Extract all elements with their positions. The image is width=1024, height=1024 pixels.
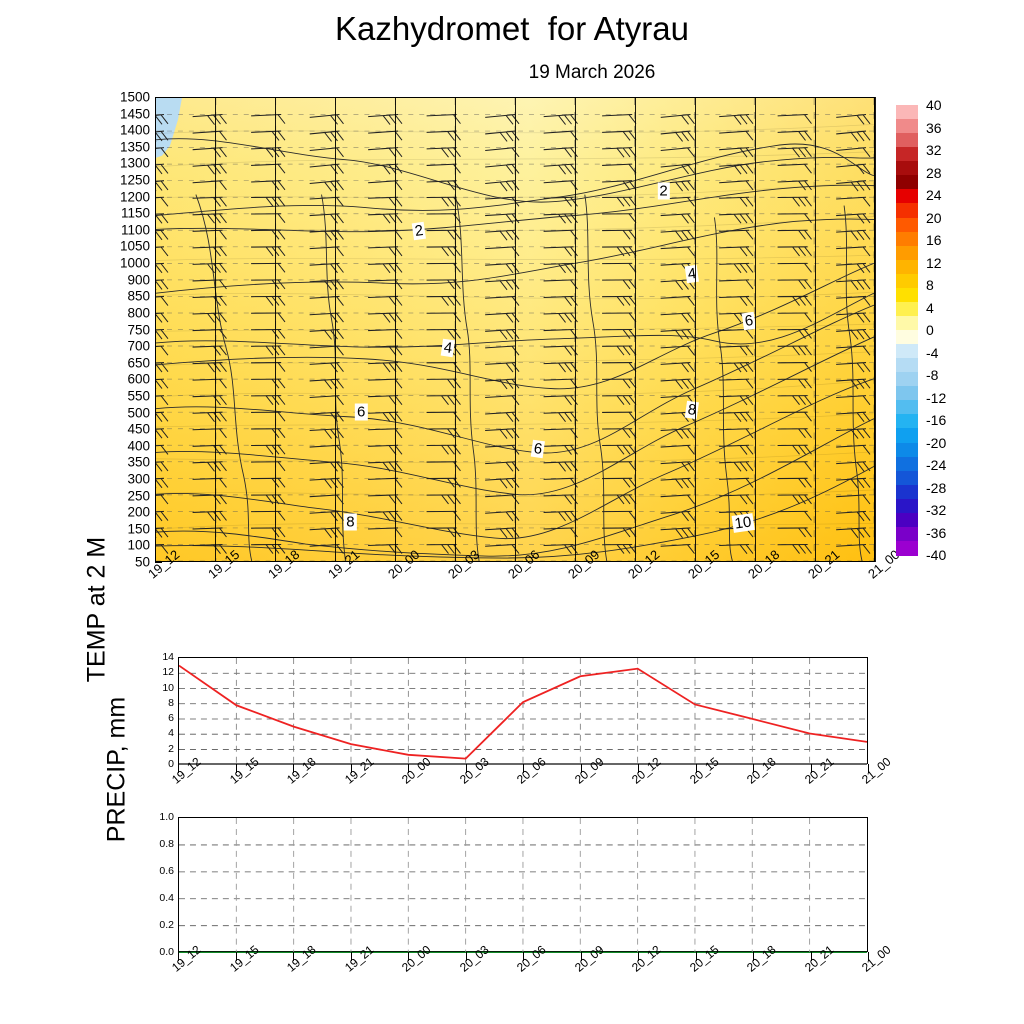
temperature-colorbar <box>896 105 918 555</box>
colorbar-segment <box>896 485 918 500</box>
colorbar-segment <box>896 330 918 345</box>
xsec-x-tick <box>275 97 276 562</box>
xsec-y-label: 1000 <box>90 256 150 270</box>
colorbar-segment <box>896 414 918 429</box>
colorbar-tick-label: 36 <box>926 121 942 135</box>
xsec-y-label: 750 <box>90 323 150 337</box>
xsec-y-label: 350 <box>90 456 150 470</box>
colorbar-tick-label: 24 <box>926 188 942 202</box>
xsec-y-label: 550 <box>90 389 150 403</box>
xsec-y-label: 600 <box>90 373 150 387</box>
xsec-x-tick <box>395 97 396 562</box>
xsec-y-label: 1200 <box>90 190 150 204</box>
colorbar-tick-label: -32 <box>926 503 946 517</box>
colorbar-tick-label: 0 <box>926 323 934 337</box>
colorbar-tick-label: 16 <box>926 233 942 247</box>
temp-series-line <box>179 658 867 765</box>
temp-panel-y-labels: 02468101214 <box>128 657 174 764</box>
xsec-x-tick <box>155 97 156 562</box>
colorbar-segment <box>896 428 918 443</box>
colorbar-segment <box>896 457 918 472</box>
colorbar-segment <box>896 541 918 556</box>
colorbar-tick-label: -36 <box>926 526 946 540</box>
colorbar-segment <box>896 161 918 176</box>
colorbar-segment <box>896 147 918 162</box>
precip-y-label: 1.0 <box>159 812 174 823</box>
colorbar-segment <box>896 246 918 261</box>
colorbar-tick-label: -24 <box>926 458 946 472</box>
xsec-y-label: 1500 <box>90 90 150 104</box>
precip-y-label: 0.8 <box>159 839 174 850</box>
colorbar-segment <box>896 302 918 317</box>
colorbar-segment <box>896 358 918 373</box>
xsec-y-label: 1350 <box>90 140 150 154</box>
colorbar-tick-label: -8 <box>926 368 938 382</box>
weather-forecast-page: Kazhydromet for Atyrau 19 March 2026 150… <box>0 0 1024 1024</box>
xsec-y-label: 800 <box>90 306 150 320</box>
colorbar-segment <box>896 260 918 275</box>
colorbar-segment <box>896 288 918 303</box>
xsec-x-tick <box>695 97 696 562</box>
colorbar-segment <box>896 316 918 331</box>
colorbar-tick-label: 8 <box>926 278 934 292</box>
temp-y-label: 6 <box>168 713 174 724</box>
page-title: Kazhydromet for Atyrau <box>0 10 1024 48</box>
precip-y-label: 0.2 <box>159 920 174 931</box>
xsec-y-label: 650 <box>90 356 150 370</box>
xsec-x-tick <box>335 97 336 562</box>
colorbar-segment <box>896 203 918 218</box>
colorbar-tick-label: -40 <box>926 548 946 562</box>
xsec-x-tick <box>875 97 876 562</box>
colorbar-segment <box>896 443 918 458</box>
colorbar-tick-label: 20 <box>926 211 942 225</box>
precip-y-label: 0.4 <box>159 893 174 904</box>
xsec-y-label: 400 <box>90 439 150 453</box>
colorbar-segment <box>896 400 918 415</box>
xsec-y-label: 1150 <box>90 207 150 221</box>
temp-y-label: 12 <box>162 667 174 678</box>
xsec-y-axis-labels: 1500145014001350130012501200115011001050… <box>88 97 150 562</box>
xsec-x-tick <box>215 97 216 562</box>
colorbar-segment <box>896 232 918 247</box>
xsec-x-tick <box>515 97 516 562</box>
xsec-y-label: 500 <box>90 406 150 420</box>
colorbar-tick-label: 12 <box>926 256 942 270</box>
temp-y-label: 0 <box>168 759 174 770</box>
colorbar-segment <box>896 274 918 289</box>
xsec-x-tick <box>635 97 636 562</box>
colorbar-segment <box>896 386 918 401</box>
temp-y-label: 4 <box>168 728 174 739</box>
xsec-y-label: 700 <box>90 339 150 353</box>
colorbar-tick-label: -4 <box>926 346 938 360</box>
colorbar-tick-label: 4 <box>926 301 934 315</box>
xsec-y-label: 1450 <box>90 107 150 121</box>
colorbar-segment <box>896 471 918 486</box>
xsec-x-tick <box>755 97 756 562</box>
colorbar-segment <box>896 133 918 148</box>
temp-y-label: 8 <box>168 698 174 709</box>
colorbar-segment <box>896 218 918 233</box>
colorbar-segment <box>896 513 918 528</box>
colorbar-segment <box>896 372 918 387</box>
xsec-y-label: 1050 <box>90 240 150 254</box>
colorbar-segment <box>896 499 918 514</box>
precip-y-label: 0.6 <box>159 866 174 877</box>
xsec-y-label: 300 <box>90 472 150 486</box>
xsec-y-label: 1300 <box>90 157 150 171</box>
precip-y-label: 0.0 <box>159 947 174 958</box>
temp-at-2m-plot <box>178 657 868 764</box>
colorbar-tick-label: 40 <box>926 98 942 112</box>
precip-series-line <box>179 818 867 953</box>
colorbar-segment <box>896 527 918 542</box>
page-subtitle: 19 March 2026 <box>0 62 1024 84</box>
precipitation-plot <box>178 817 868 952</box>
xsec-x-tick <box>575 97 576 562</box>
xsec-x-axis-ticks <box>155 97 875 562</box>
xsec-y-label: 900 <box>90 273 150 287</box>
colorbar-segment <box>896 119 918 134</box>
xsec-y-label: 1100 <box>90 223 150 237</box>
precip-panel-y-labels: 0.00.20.40.60.81.0 <box>128 817 174 952</box>
xsec-y-label: 1250 <box>90 173 150 187</box>
xsec-x-tick <box>455 97 456 562</box>
colorbar-tick-label: 32 <box>926 143 942 157</box>
xsec-y-label: 450 <box>90 422 150 436</box>
temp-y-label: 2 <box>168 743 174 754</box>
temp-y-label: 10 <box>162 682 174 693</box>
xsec-y-label: 1400 <box>90 123 150 137</box>
colorbar-segment <box>896 344 918 359</box>
colorbar-tick-label: -28 <box>926 481 946 495</box>
xsec-x-tick <box>815 97 816 562</box>
colorbar-segment <box>896 175 918 190</box>
temp-y-label: 14 <box>162 652 174 663</box>
xsec-y-label: 850 <box>90 290 150 304</box>
colorbar-segment <box>896 189 918 204</box>
colorbar-tick-label: -20 <box>926 436 946 450</box>
colorbar-tick-label: 28 <box>926 166 942 180</box>
colorbar-tick-label: -12 <box>926 391 946 405</box>
colorbar-tick-label: -16 <box>926 413 946 427</box>
colorbar-segment <box>896 105 918 120</box>
